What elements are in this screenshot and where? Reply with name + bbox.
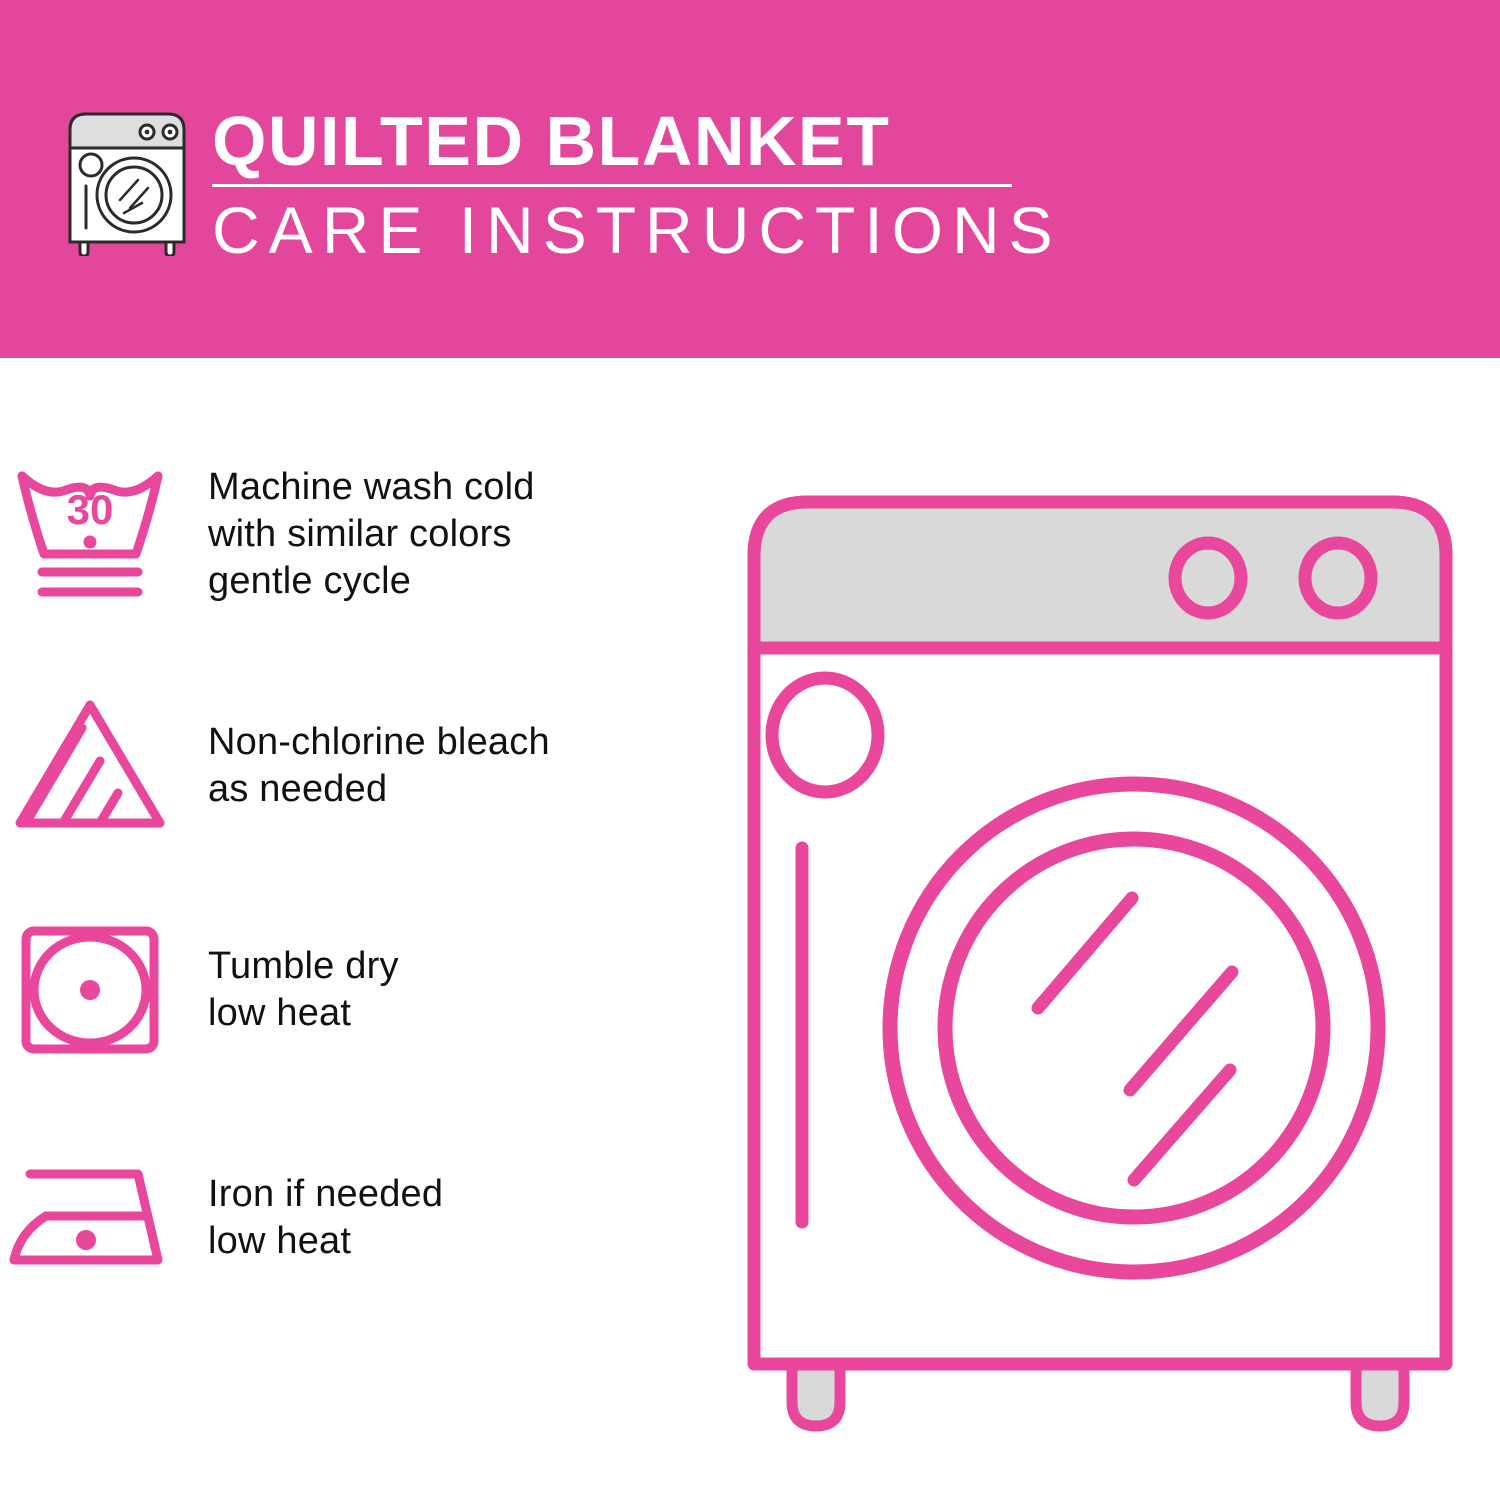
care-instruction-row: Non-chlorine bleach as needed	[0, 676, 730, 856]
care-instruction-label: Non-chlorine bleach as needed	[180, 719, 550, 813]
page-subtitle: CARE INSTRUCTIONS	[212, 195, 1022, 265]
header-text-block: QUILTED BLANKET CARE INSTRUCTIONS	[212, 104, 1022, 265]
header-banner: QUILTED BLANKET CARE INSTRUCTIONS	[0, 0, 1500, 358]
title-divider	[212, 184, 1012, 187]
tumble-dry-symbol	[0, 900, 180, 1080]
care-instruction-row: 30 Machine wash cold with similar colors…	[0, 444, 730, 624]
non-chlorine-bleach-symbol	[0, 676, 180, 856]
care-instruction-row: Iron if needed low heat	[0, 1128, 730, 1308]
care-instruction-label: Machine wash cold with similar colors ge…	[180, 464, 535, 605]
care-instruction-row: Tumble dry low heat	[0, 900, 730, 1080]
care-instruction-label: Iron if needed low heat	[180, 1171, 443, 1265]
page-title: QUILTED BLANKET	[212, 104, 1022, 178]
washing-machine-illustration	[740, 480, 1470, 1440]
washing-machine-icon	[62, 108, 192, 256]
wash-temperature-value: 30	[67, 486, 114, 533]
machine-wash-symbol: 30	[0, 444, 180, 624]
care-instructions-list: 30 Machine wash cold with similar colors…	[0, 358, 730, 1500]
iron-symbol	[0, 1128, 180, 1308]
care-instruction-label: Tumble dry low heat	[180, 943, 399, 1037]
